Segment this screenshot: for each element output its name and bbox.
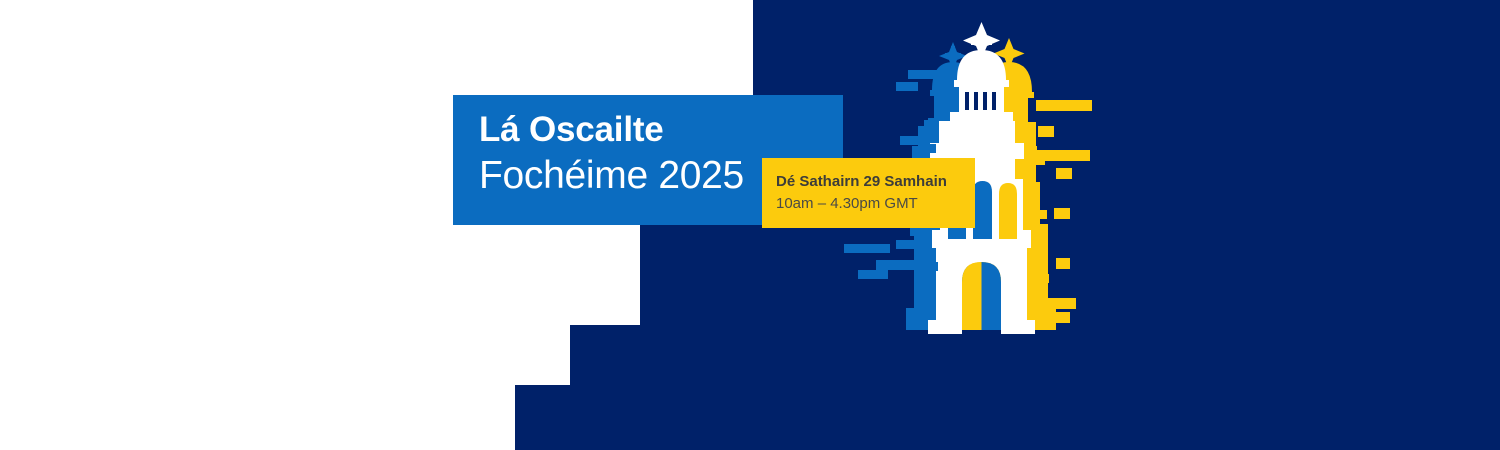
event-banner: Lá Oscailte Fochéime 2025 Dé Sathairn 29…	[0, 0, 1500, 450]
badge-time-text: 10am – 4.30pm GMT	[776, 195, 918, 212]
badge-date-text: Dé Sathairn 29 Samhain	[776, 173, 947, 190]
page-title-line-2: Fochéime 2025	[479, 156, 744, 195]
page-title-line-1: Lá Oscailte	[479, 112, 664, 147]
background-navy-step-3	[515, 385, 1500, 450]
date-time-badge: Dé Sathairn 29 Samhain 10am – 4.30pm GMT	[762, 158, 975, 228]
base-arch-opening	[962, 262, 1001, 330]
